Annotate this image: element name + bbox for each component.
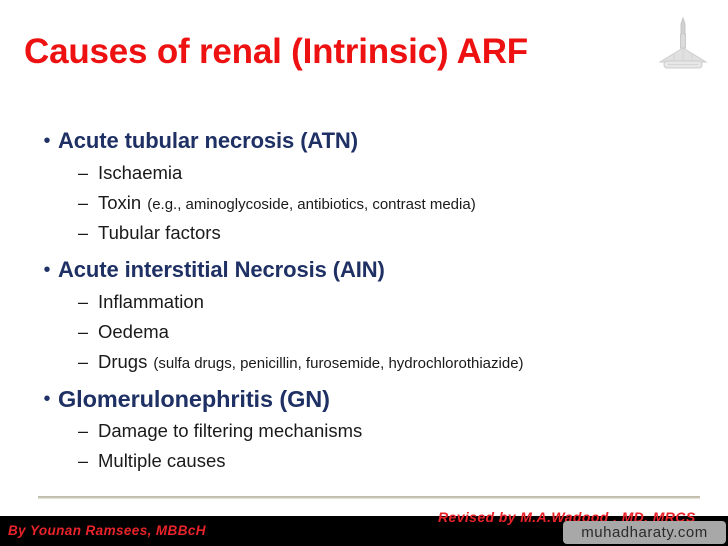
bullet-dot-icon: • — [36, 255, 58, 285]
sub-bullet-label: Inflammation — [98, 287, 204, 316]
list-item-sub: – Oedema — [0, 317, 728, 347]
title-block: Causes of renal (Intrinsic) ARF — [24, 24, 644, 80]
list-item-sub: – Ischaemia — [0, 158, 728, 188]
sub-bullet-label: Drugs — [98, 347, 147, 376]
dash-icon: – — [78, 159, 98, 188]
page-title: Causes of renal (Intrinsic) ARF — [24, 34, 528, 71]
dash-icon: – — [78, 189, 98, 218]
dash-icon: – — [78, 318, 98, 347]
bullet-list: • Acute tubular necrosis (ATN) – Ischaem… — [0, 126, 728, 476]
sub-bullet-note: (e.g., aminoglycoside, antibiotics, cont… — [147, 196, 475, 213]
university-crest-logo — [652, 14, 714, 76]
main-bullet-label: Acute interstitial Necrosis (AIN) — [58, 255, 385, 285]
horizontal-divider — [38, 496, 700, 499]
list-item-sub: – Toxin (e.g., aminoglycoside, antibioti… — [0, 188, 728, 218]
sub-bullet-label: Multiple causes — [98, 446, 226, 475]
slide-canvas: Causes of renal (Intrinsic) ARF • Acute … — [0, 0, 728, 546]
footer-author-left: By Younan Ramsees, MBBcH — [8, 523, 206, 538]
bullet-dot-icon: • — [36, 384, 58, 414]
list-item-sub: – Tubular factors — [0, 218, 728, 248]
dash-icon: – — [78, 417, 98, 446]
list-item-sub: – Damage to filtering mechanisms — [0, 416, 728, 446]
list-item-main: • Glomerulonephritis (GN) — [0, 384, 728, 414]
list-item-main: • Acute interstitial Necrosis (AIN) — [0, 255, 728, 285]
list-item-sub: – Inflammation — [0, 287, 728, 317]
dash-icon: – — [78, 288, 98, 317]
list-item-sub: – Drugs (sulfa drugs, penicillin, furose… — [0, 347, 728, 377]
dash-icon: – — [78, 348, 98, 377]
list-item-main: • Acute tubular necrosis (ATN) — [0, 126, 728, 156]
bullet-dot-icon: • — [36, 126, 58, 156]
dash-icon: – — [78, 447, 98, 476]
sub-bullet-note: (sulfa drugs, penicillin, furosemide, hy… — [153, 355, 523, 372]
sub-bullet-label: Tubular factors — [98, 218, 221, 247]
sub-bullet-label: Oedema — [98, 317, 169, 346]
sub-bullet-label: Damage to filtering mechanisms — [98, 416, 362, 445]
watermark-badge: muhadharaty.com — [563, 521, 726, 544]
sub-bullet-label: Toxin — [98, 188, 141, 217]
dash-icon: – — [78, 219, 98, 248]
main-bullet-label: Glomerulonephritis (GN) — [58, 384, 330, 414]
main-bullet-label: Acute tubular necrosis (ATN) — [58, 126, 358, 156]
sub-bullet-label: Ischaemia — [98, 158, 182, 187]
list-item-sub: – Multiple causes — [0, 446, 728, 476]
